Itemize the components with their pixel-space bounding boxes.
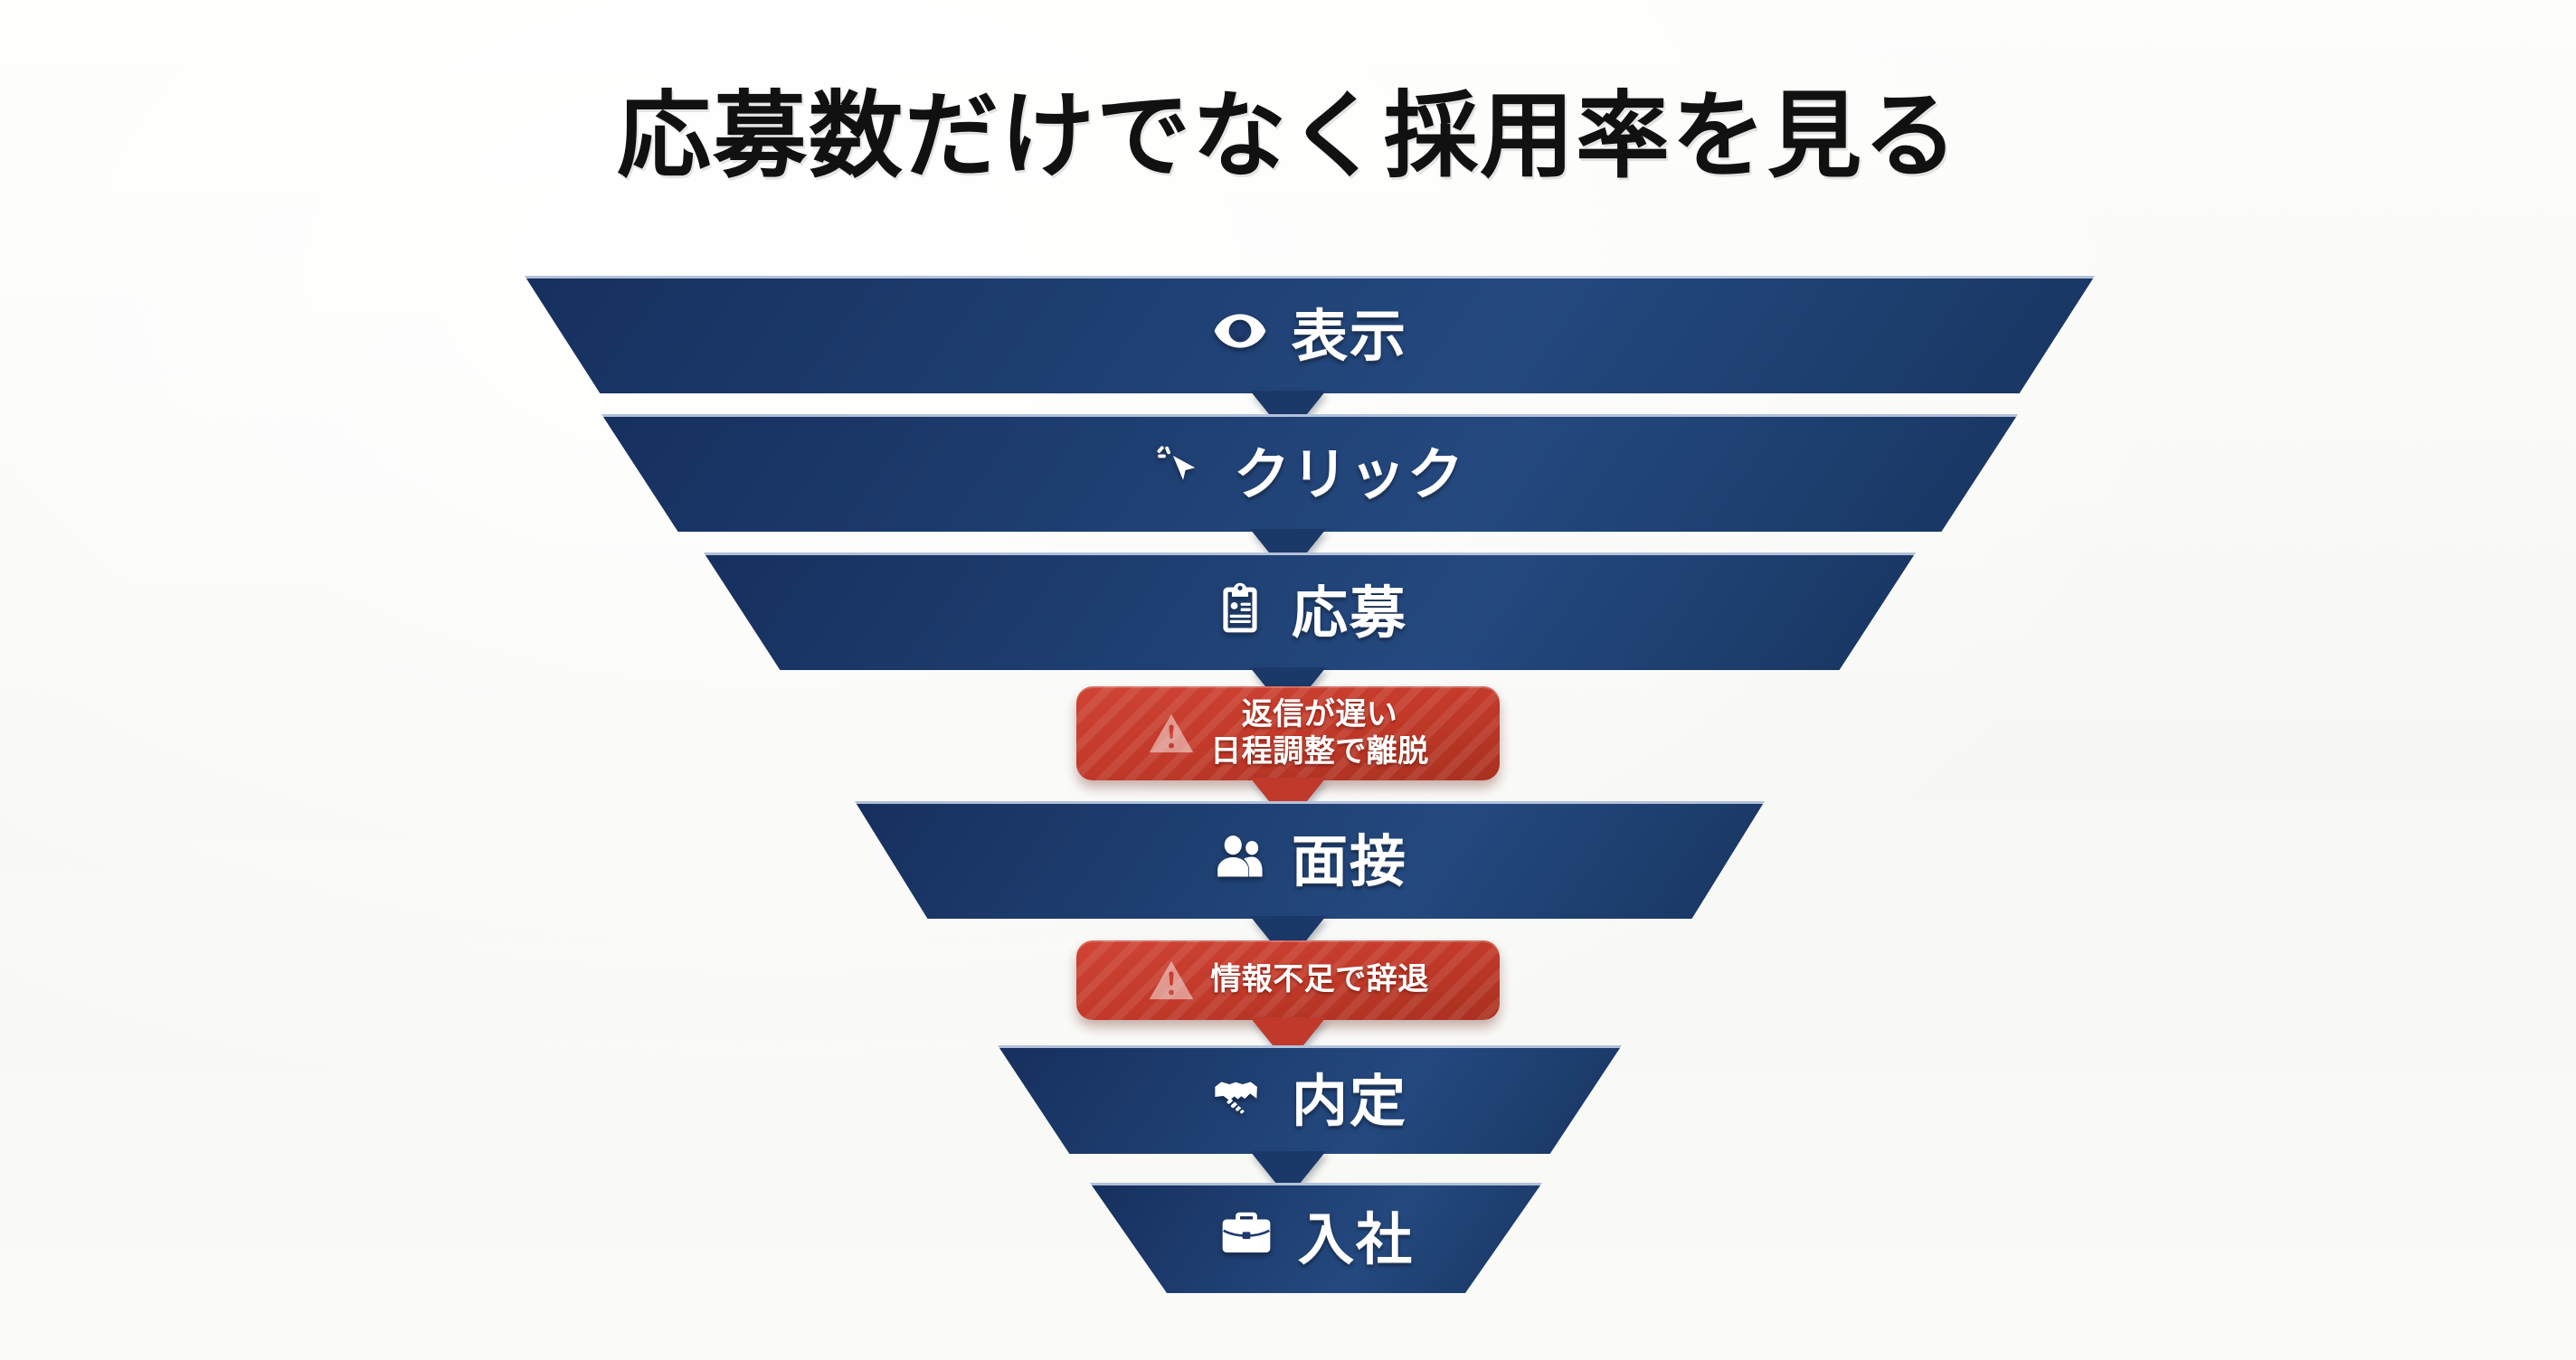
users-icon — [1212, 828, 1268, 884]
dropoff-warning-2[interactable]: 情報不足で辞退 — [1076, 940, 1500, 1020]
funnel-stage-nyuusha[interactable]: 入社 — [1090, 1183, 1542, 1293]
funnel-stage-content: 入社 — [1218, 1194, 1414, 1275]
funnel-stage-label: 内定 — [1292, 1055, 1407, 1137]
funnel-stage-content: 面接 — [1212, 816, 1407, 897]
dropoff-warning-1[interactable]: 返信が遅い 日程調整で離脱 — [1076, 686, 1500, 780]
funnel-stage-content: 応募 — [1212, 567, 1407, 648]
dropoff-warning-text: 情報不足で辞退 — [1210, 961, 1429, 998]
funnel-stage-label: 表示 — [1292, 290, 1407, 372]
funnel-stage-content: クリック — [1154, 429, 1465, 510]
warning-triangle-icon — [1147, 709, 1196, 758]
dropoff-warning-text: 返信が遅い 日程調整で離脱 — [1210, 696, 1429, 771]
funnel-stage-hyouji[interactable]: 表示 — [525, 276, 2095, 393]
warning-triangle-icon — [1147, 956, 1196, 1005]
funnel-stage-content: 内定 — [1212, 1055, 1407, 1137]
clipboard-icon — [1212, 580, 1268, 636]
funnel-stage-label: 面接 — [1292, 816, 1407, 897]
funnel-stage-oubo[interactable]: 応募 — [704, 552, 1916, 670]
funnel-stage-mensetsu[interactable]: 面接 — [855, 801, 1765, 919]
funnel-stage-label: 応募 — [1292, 567, 1407, 648]
eye-icon — [1212, 303, 1268, 359]
briefcase-icon — [1218, 1206, 1274, 1262]
handshake-icon — [1212, 1068, 1268, 1124]
recruitment-funnel-diagram: 表示 クリック — [0, 0, 2576, 1360]
funnel-stage-click[interactable]: クリック — [601, 414, 2018, 532]
funnel-stage-content: 表示 — [1212, 290, 1407, 372]
funnel-stage-label: 入社 — [1298, 1194, 1414, 1275]
cursor-click-icon — [1154, 441, 1210, 497]
funnel-stage-label: クリック — [1234, 429, 1465, 510]
funnel-stage-naitei[interactable]: 内定 — [998, 1045, 1622, 1154]
